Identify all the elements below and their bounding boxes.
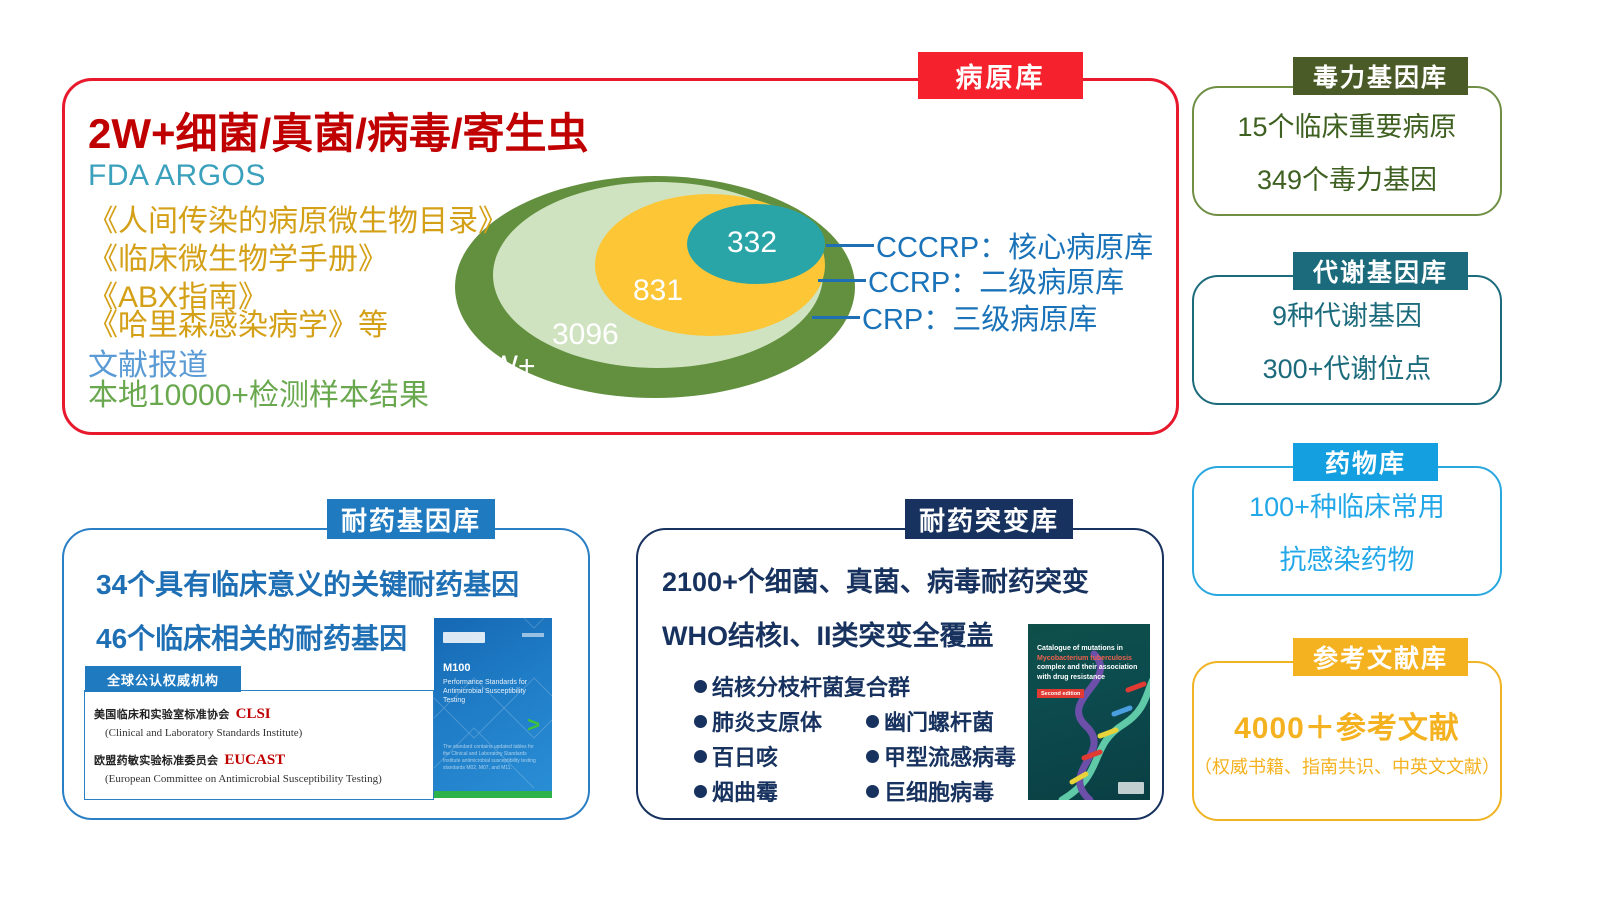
who-book-edition: Second edition [1037,689,1084,698]
metabolic-body: 9种代谢基因 300+代谢位点 [1194,277,1500,403]
leader-line-icon [826,244,874,247]
authority-name-en-eucast: (European Committee on Antimicrobial Sus… [105,773,382,785]
drug-line-1: 100+种临床常用 [1249,485,1445,524]
bullet-item: 甲型流感病毒 [866,740,1016,772]
bullet-item: 烟曲霉 [694,775,866,807]
m100-footer-text: The standard contains updated tables for… [443,744,539,772]
pathogen-bullet-list: 结核分枝杆菌复合群 肺炎支原体 幽门螺杆菌 百日咳 [694,670,1034,810]
authority-name-cn-clsi: 美国临床和实验室标准协会 [94,709,230,721]
reference-line-2: （权威书籍、指南共识、中英文文献） [1194,753,1500,779]
bullet-dot-icon [694,785,707,798]
authority-institutions-box: 全球公认权威机构 美国临床和实验室标准协会CLSI (Clinical and … [84,690,434,800]
source-fda-argos: FDA ARGOS [88,159,266,193]
authority-row-eucast: 欧盟药敏实验标准委员会EUCAST [94,751,285,769]
bullet-item: 结核分枝杆菌复合群 [694,670,866,702]
infographic-canvas: 病原库 2W+细菌/真菌/病毒/寄生虫 FDA ARGOS 《人间传染的病原微生… [0,0,1600,900]
authority-name-en-clsi: (Clinical and Laboratory Standards Insti… [105,727,302,739]
bullet-dot-icon [866,715,879,728]
book-bottom-bar [434,791,552,798]
resistance-gene-line-1: 34个具有临床意义的关键耐药基因 [96,563,519,603]
leader-line-icon [812,316,860,319]
chevron-right-icon: > [527,714,540,736]
pathogen-library-badge: 病原库 [918,52,1083,99]
metabolic-gene-card: 9种代谢基因 300+代谢位点 [1192,275,1502,405]
who-book-title: Catalogue of mutations in Mycobacterium … [1037,644,1141,682]
nested-pathogen-venn: 2W+ 3096 831 332 [455,176,875,408]
venn-label-mid: 3096 [552,318,619,352]
resistance-mutation-badge: 耐药突变库 [905,499,1073,539]
who-title-part1: Catalogue of mutations in [1037,645,1123,652]
virulence-line-2: 349个毒力基因 [1257,158,1437,197]
reference-line-1: 4000＋参考文献 [1234,703,1460,747]
source-book-4: 《哈里森感染病学》等 [88,300,388,344]
who-title-species: Mycobacterium tuberculosis [1037,655,1132,662]
reference-body: 4000＋参考文献 （权威书籍、指南共识、中英文文献） [1194,663,1500,819]
reference-library-badge: 参考文献库 [1293,638,1468,676]
virulence-gene-card: 15个临床重要病原 349个毒力基因 [1192,86,1502,216]
bullet-dot-icon [694,680,707,693]
bullet-dot-icon [694,715,707,728]
m100-subtitle: Performance Standards for Antimicrobial … [443,678,541,705]
book-edition-tag [522,633,544,637]
source-local-samples: 本地10000+检测样本结果 [88,370,429,414]
bullet-label: 结核分枝杆菌复合群 [712,670,910,702]
resistance-gene-line-2: 46个临床相关的耐药基因 [96,617,407,657]
authority-abbr-eucast: EUCAST [224,752,285,768]
leader-line-icon [818,279,866,282]
bullet-label: 百日咳 [712,740,778,772]
bullet-row: 百日咳 甲型流感病毒 [694,740,1034,772]
bullet-row: 结核分枝杆菌复合群 [694,670,1034,702]
virulence-body: 15个临床重要病原 349个毒力基因 [1194,88,1500,214]
bullet-label: 幽门螺杆菌 [884,705,994,737]
reference-library-card: 4000＋参考文献 （权威书籍、指南共识、中英文文献） [1192,661,1502,821]
bullet-item: 百日咳 [694,740,866,772]
metabolic-line-1: 9种代谢基因 [1272,294,1422,333]
who-logo-icon [1118,782,1144,794]
bullet-item: 巨细胞病毒 [866,775,994,807]
who-title-part3: complex and their association with drug … [1037,664,1137,681]
bullet-label: 烟曲霉 [712,775,778,807]
authority-abbr-clsi: CLSI [236,706,271,722]
bullet-label: 肺炎支原体 [712,705,822,737]
m100-code: M100 [443,662,471,674]
venn-label-outer: 2W+ [473,350,536,384]
bullet-label: 甲型流感病毒 [884,740,1016,772]
bullet-dot-icon [694,750,707,763]
bullet-dot-icon [866,785,879,798]
virulence-line-1: 15个临床重要病原 [1237,105,1456,144]
resistance-gene-badge: 耐药基因库 [327,499,495,539]
resistance-mutation-line-2: WHO结核I、II类突变全覆盖 [662,614,994,653]
clsi-logo-icon [443,632,485,643]
bullet-dot-icon [866,750,879,763]
who-tb-mutation-catalogue-cover: Catalogue of mutations in Mycobacterium … [1028,624,1150,800]
venn-label-core: 332 [727,226,777,260]
bullet-item: 肺炎支原体 [694,705,866,737]
metabolic-line-2: 300+代谢位点 [1263,347,1432,386]
authority-row-clsi: 美国临床和实验室标准协会CLSI [94,705,271,723]
bullet-item: 幽门螺杆菌 [866,705,994,737]
bullet-row: 肺炎支原体 幽门螺杆菌 [694,705,1034,737]
drug-library-card: 100+种临床常用 抗感染药物 [1192,466,1502,596]
venn-label-inner: 831 [633,275,667,306]
pathogen-title: 2W+细菌/真菌/病毒/寄生虫 [88,100,589,161]
bullet-row: 烟曲霉 巨细胞病毒 [694,775,1034,807]
legend-row-ccrp: CCRP：二级病原库 [818,259,1124,301]
metabolic-gene-badge: 代谢基因库 [1293,252,1468,290]
resistance-mutation-line-1: 2100+个细菌、真菌、病毒耐药突变 [662,560,1089,599]
resistance-mutation-card: 2100+个细菌、真菌、病毒耐药突变 WHO结核I、II类突变全覆盖 结核分枝杆… [636,528,1164,820]
clsi-m100-book-cover: M100 Performance Standards for Antimicro… [434,618,552,798]
legend-label-crp: CRP：三级病原库 [862,296,1097,338]
virulence-gene-badge: 毒力基因库 [1293,57,1468,95]
resistance-gene-card: 34个具有临床意义的关键耐药基因 46个临床相关的耐药基因 全球公认权威机构 美… [62,528,590,820]
legend-label-ccrp: CCRP：二级病原库 [868,259,1124,301]
drug-body: 100+种临床常用 抗感染药物 [1194,468,1500,594]
authority-box-header: 全球公认权威机构 [85,666,241,692]
bullet-label: 巨细胞病毒 [884,775,994,807]
drug-library-badge: 药物库 [1293,443,1438,481]
authority-name-cn-eucast: 欧盟药敏实验标准委员会 [94,755,218,767]
drug-line-2: 抗感染药物 [1280,538,1415,577]
legend-row-crp: CRP：三级病原库 [812,296,1097,338]
